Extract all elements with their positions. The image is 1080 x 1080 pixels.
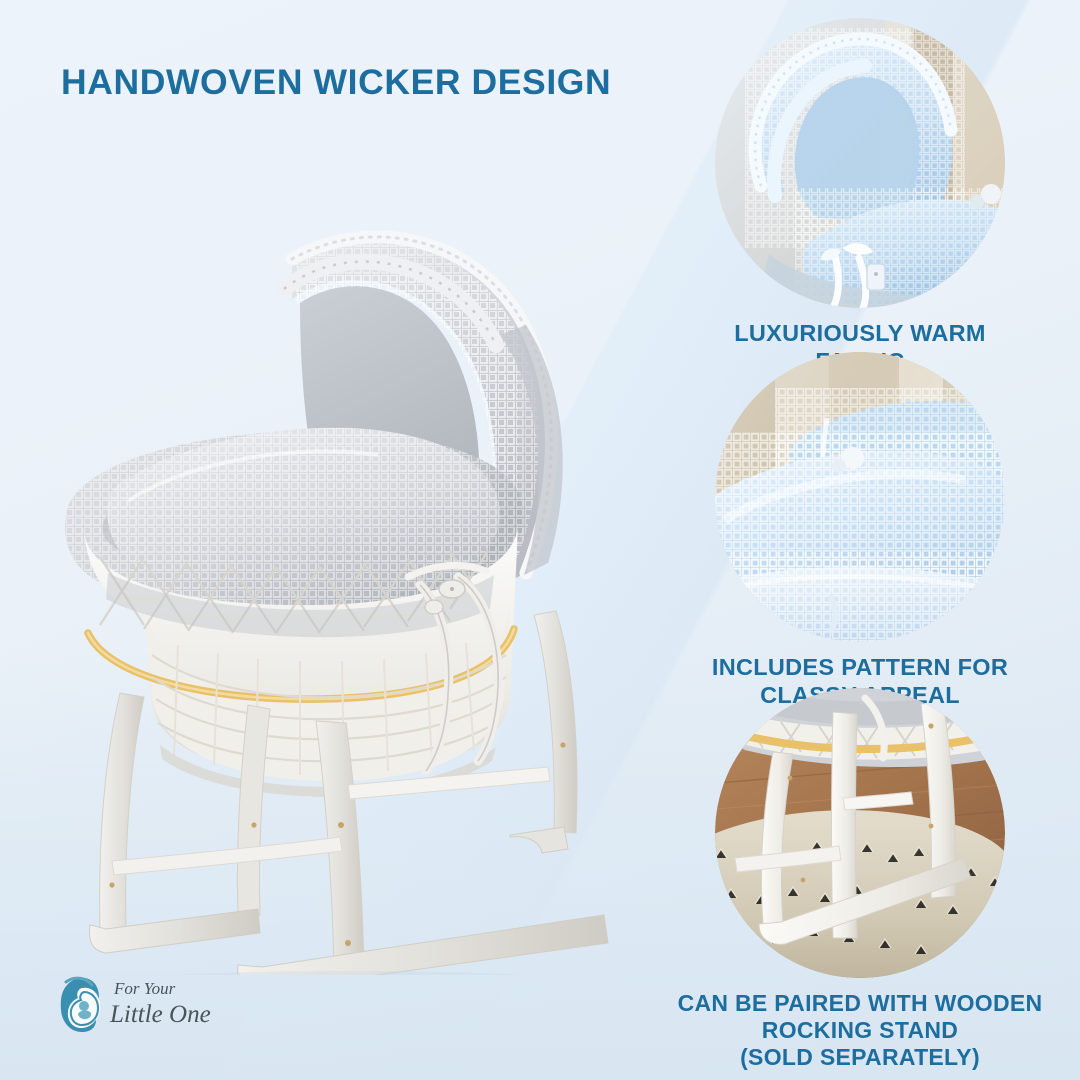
feature-1-image xyxy=(715,18,1005,308)
logo-line1: For Your xyxy=(113,979,176,998)
feature-3-caption: CAN BE PAIRED WITH WOODEN ROCKING STAND … xyxy=(660,990,1060,1071)
feature-rocking-stand: CAN BE PAIRED WITH WOODEN ROCKING STAND … xyxy=(660,688,1060,1071)
feature-3-image xyxy=(715,688,1005,978)
feature-2-image xyxy=(715,352,1005,642)
brand-logo[interactable]: For Your Little One xyxy=(52,968,227,1038)
mother-and-baby-icon xyxy=(61,978,100,1032)
feature-classy-pattern: INCLUDES PATTERN FOR CLASSY APPEAL xyxy=(660,352,1060,709)
infographic-canvas: HANDWOVEN WICKER DESIGN xyxy=(0,0,1080,1080)
feature-warm-fabric: LUXURIOUSLY WARM FABRIC xyxy=(660,18,1060,375)
logo-line2: Little One xyxy=(109,1001,211,1028)
hero-product-image xyxy=(48,185,648,975)
page-title: HANDWOVEN WICKER DESIGN xyxy=(61,62,681,103)
